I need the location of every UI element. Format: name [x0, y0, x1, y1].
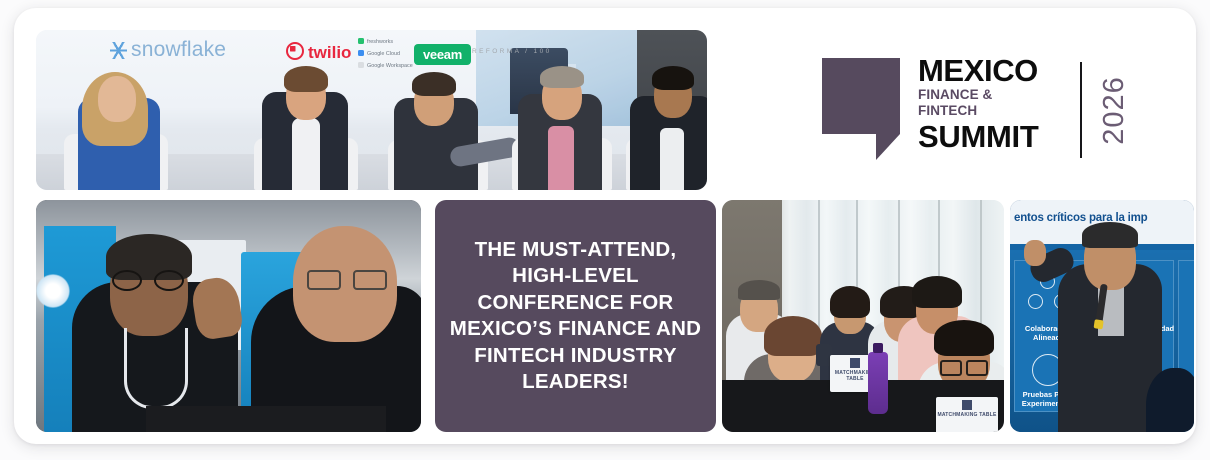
sign-label: MATCHMAKING TABLE: [937, 412, 996, 418]
photo-speaker: entos críticos para la imp Colaboración …: [1010, 200, 1194, 432]
panelist: [506, 66, 622, 190]
panelist-hair: [412, 72, 456, 96]
sponsor-logo-twilio: twilio: [286, 42, 351, 63]
logo-wordmark: MEXICO FINANCE & FINTECH SUMMIT: [918, 54, 1066, 154]
logo-year-text: 2026: [1097, 76, 1130, 145]
eyeglasses-icon: [307, 270, 387, 286]
statement-panel: THE MUST-ATTEND, HIGH-LEVEL CONFERENCE F…: [435, 200, 716, 432]
lanyard: [124, 328, 188, 409]
promo-banner: snowflake twilio freshworks Google Cloud…: [14, 8, 1196, 444]
sponsor-label: twilio: [308, 43, 351, 62]
snowflake-icon: [110, 42, 127, 59]
sign-logo-icon: [962, 400, 972, 410]
speaker-hand: [1024, 240, 1046, 266]
panelist-shirt: [292, 118, 320, 190]
sponsor-logo-group: freshworks Google Cloud Google Workspace: [358, 36, 413, 72]
sponsor-label: Google Workspace: [367, 63, 413, 69]
twilio-icon: [286, 42, 304, 60]
panelist-head: [98, 76, 136, 122]
foreground-attendee: [1146, 368, 1194, 432]
panelist-hair: [652, 66, 694, 90]
sponsor-row: Google Workspace: [358, 60, 413, 72]
collaboration-icon: [1028, 294, 1043, 309]
slide-title: entos críticos para la imp: [1014, 212, 1148, 224]
person-hair: [738, 280, 780, 300]
photo-conversation: [36, 200, 421, 432]
sponsor-row: freshworks: [358, 36, 413, 48]
statement-text: THE MUST-ATTEND, HIGH-LEVEL CONFERENCE F…: [435, 237, 716, 396]
logo-line-finance: FINANCE &: [918, 87, 1066, 103]
matchmaking-sign: MATCHMAKING TABLE: [936, 397, 998, 432]
panelist: [64, 70, 174, 190]
panelist: [250, 64, 362, 190]
panelist-hair: [540, 66, 584, 88]
photo-networking: MATCHMAKING TABLE MATCHMAKING TABLE: [722, 200, 1004, 432]
logo-line-fintech: FINTECH: [918, 103, 1066, 119]
table-surface: [146, 406, 386, 432]
panelist: [388, 72, 506, 190]
person-hair: [830, 286, 870, 318]
event-logo: MEXICO FINANCE & FINTECH SUMMIT 2026: [822, 54, 1122, 166]
sponsor-row: Google Cloud: [358, 48, 413, 60]
logo-year: 2026: [1068, 64, 1160, 156]
logo-line-summit: SUMMIT: [918, 120, 1066, 154]
sponsor-label: snowflake: [131, 38, 226, 61]
speech-bubble-tail-icon: [876, 134, 900, 160]
sponsor-logo-veeam: veeam: [414, 44, 471, 65]
sponsor-label: Google Cloud: [367, 51, 400, 57]
panelist-shirt: [548, 126, 574, 190]
sponsor-logo-snowflake: snowflake: [110, 38, 226, 62]
person-hair: [912, 276, 962, 308]
water-bottle: [868, 352, 888, 414]
sponsor-label: freshworks: [367, 39, 393, 45]
speaker-hair: [1082, 222, 1138, 248]
speech-bubble-icon: [822, 58, 900, 134]
panelist-hair: [284, 66, 328, 92]
sign-logo-icon: [850, 358, 860, 368]
eyeglasses-icon: [940, 360, 988, 372]
freshworks-icon: [358, 38, 364, 44]
person-hair: [934, 320, 994, 356]
person-hair: [764, 316, 822, 356]
google-cloud-icon: [358, 50, 364, 56]
ceiling-light: [36, 274, 70, 308]
panelist: [622, 68, 707, 190]
photo-panel-discussion: snowflake twilio freshworks Google Cloud…: [36, 30, 707, 190]
sponsor-logo-reforma: REFORMA / 100: [472, 48, 552, 55]
logo-line-mexico: MEXICO: [918, 54, 1066, 87]
panelist-shirt: [660, 128, 684, 190]
eyeglasses-icon: [112, 270, 184, 287]
